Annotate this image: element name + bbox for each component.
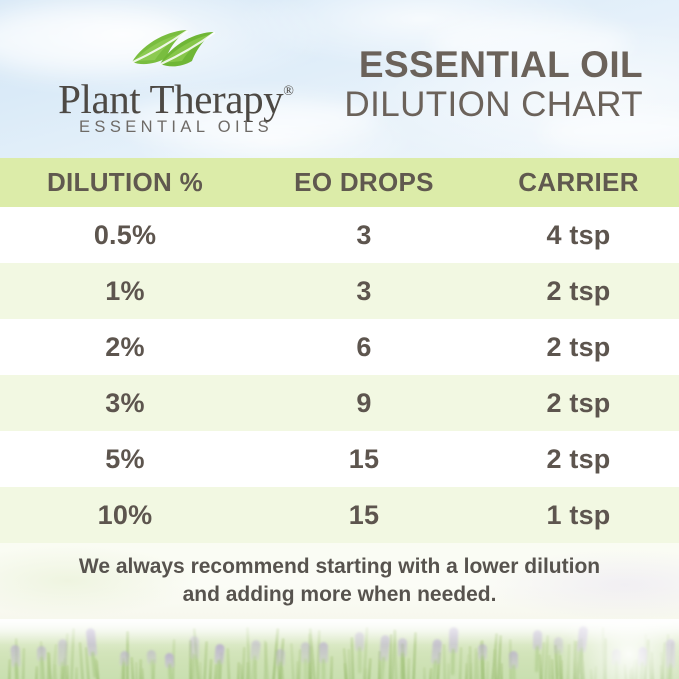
cell-carrier: 4 tsp: [478, 220, 679, 251]
page-title: ESSENTIAL OIL DILUTION CHART: [344, 45, 643, 124]
footer-note: We always recommend starting with a lowe…: [70, 553, 610, 609]
column-header-carrier: CARRIER: [478, 167, 679, 198]
cell-drops: 6: [250, 332, 478, 363]
table-row: 1% 3 2 tsp: [0, 263, 679, 319]
cell-carrier: 2 tsp: [478, 332, 679, 363]
cell-dilution: 5%: [0, 444, 250, 475]
cell-dilution: 2%: [0, 332, 250, 363]
brand-name-text: Plant Therapy: [58, 76, 283, 122]
lavender-field-photo: [0, 619, 679, 679]
footer-note-band: We always recommend starting with a lowe…: [0, 543, 679, 619]
dilution-chart-poster: Plant Therapy® ESSENTIAL OILS ESSENTIAL …: [0, 0, 679, 679]
table-row: 0.5% 3 4 tsp: [0, 207, 679, 263]
header-banner: Plant Therapy® ESSENTIAL OILS ESSENTIAL …: [0, 0, 679, 158]
brand-name: Plant Therapy®: [42, 68, 310, 123]
cell-drops: 15: [250, 500, 478, 531]
cell-dilution: 1%: [0, 276, 250, 307]
table-row: 10% 15 1 tsp: [0, 487, 679, 543]
cell-drops: 15: [250, 444, 478, 475]
cell-drops: 9: [250, 388, 478, 419]
dilution-table: DILUTION % EO DROPS CARRIER 0.5% 3 4 tsp…: [0, 158, 679, 543]
column-header-dilution: DILUTION %: [0, 167, 250, 198]
cell-drops: 3: [250, 220, 478, 251]
cell-drops: 3: [250, 276, 478, 307]
cell-carrier: 2 tsp: [478, 444, 679, 475]
cell-dilution: 10%: [0, 500, 250, 531]
table-row: 5% 15 2 tsp: [0, 431, 679, 487]
cell-carrier: 1 tsp: [478, 500, 679, 531]
cell-carrier: 2 tsp: [478, 276, 679, 307]
brand-logo: Plant Therapy® ESSENTIAL OILS: [42, 28, 310, 138]
table-header-row: DILUTION % EO DROPS CARRIER: [0, 158, 679, 207]
page-title-line1: ESSENTIAL OIL: [344, 45, 643, 85]
brand-tagline: ESSENTIAL OILS: [42, 118, 310, 137]
table-row: 2% 6 2 tsp: [0, 319, 679, 375]
leaf-icon: [130, 28, 216, 70]
table-row: 3% 9 2 tsp: [0, 375, 679, 431]
column-header-eo-drops: EO DROPS: [250, 167, 478, 198]
cell-dilution: 3%: [0, 388, 250, 419]
cell-dilution: 0.5%: [0, 220, 250, 251]
page-title-line2: DILUTION CHART: [344, 85, 643, 124]
cell-carrier: 2 tsp: [478, 388, 679, 419]
registered-mark: ®: [283, 84, 294, 99]
